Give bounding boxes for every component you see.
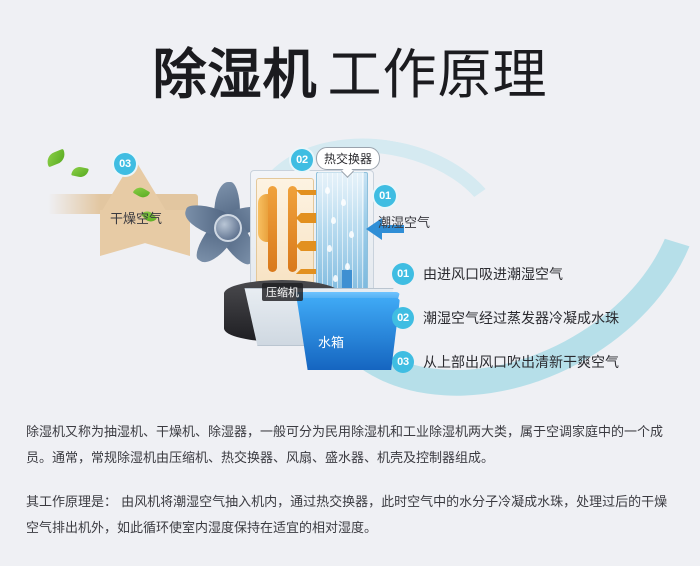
water-droplet-icon [349, 231, 354, 238]
callout-label-humid-air: 潮湿空气 [378, 212, 430, 231]
water-droplet-icon [341, 199, 346, 206]
water-droplet-icon [327, 245, 332, 252]
steps-list: 01 由进风口吸进潮湿空气 02 潮湿空气经过蒸发器冷凝成水珠 03 从上部出风… [392, 252, 692, 384]
infographic-page: 除湿机工作原理 [0, 0, 700, 566]
coil-pipe-icon [268, 186, 277, 272]
step-badge-01: 01 [392, 263, 414, 285]
water-droplet-icon [333, 275, 338, 282]
step-text-02: 潮湿空气经过蒸发器冷凝成水珠 [423, 308, 619, 328]
callout-badge-01: 01 [374, 185, 396, 207]
leaf-icon [44, 149, 67, 168]
water-droplet-icon [331, 217, 336, 224]
step-badge-03: 03 [392, 351, 414, 373]
description-block: 除湿机又称为抽湿机、干燥机、除湿器，一般可分为民用除湿机和工业除湿机两大类，属于… [26, 420, 674, 542]
part-label-compressor: 压缩机 [262, 283, 303, 301]
step-text-01: 由进风口吸进潮湿空气 [423, 264, 563, 284]
callout-label-dry-air: 干燥空气 [110, 208, 162, 227]
list-item: 02 潮湿空气经过蒸发器冷凝成水珠 [392, 296, 692, 340]
list-item: 01 由进风口吸进潮湿空气 [392, 252, 692, 296]
leaf-icon [71, 165, 89, 178]
callout-badge-02: 02 [291, 149, 313, 171]
fan-hub-icon [214, 214, 242, 242]
part-label-water-tank: 水箱 [318, 332, 344, 351]
water-droplet-icon [325, 187, 330, 194]
step-badge-02: 02 [392, 307, 414, 329]
water-tank [290, 298, 400, 370]
water-droplet-icon [345, 263, 350, 270]
description-paragraph-1: 除湿机又称为抽湿机、干燥机、除湿器，一般可分为民用除湿机和工业除湿机两大类，属于… [26, 420, 674, 472]
list-item: 03 从上部出风口吹出清新干爽空气 [392, 340, 692, 384]
description-paragraph-2: 其工作原理是： 由风机将潮湿空气抽入机内，通过热交换器，此时空气中的水分子冷凝成… [26, 490, 674, 542]
callout-label-heat-exchanger: 热交换器 [316, 147, 380, 170]
page-title-strong: 除湿机 [153, 43, 318, 106]
callout-badge-03: 03 [114, 153, 136, 175]
step-text-03: 从上部出风口吹出清新干爽空气 [423, 352, 619, 372]
